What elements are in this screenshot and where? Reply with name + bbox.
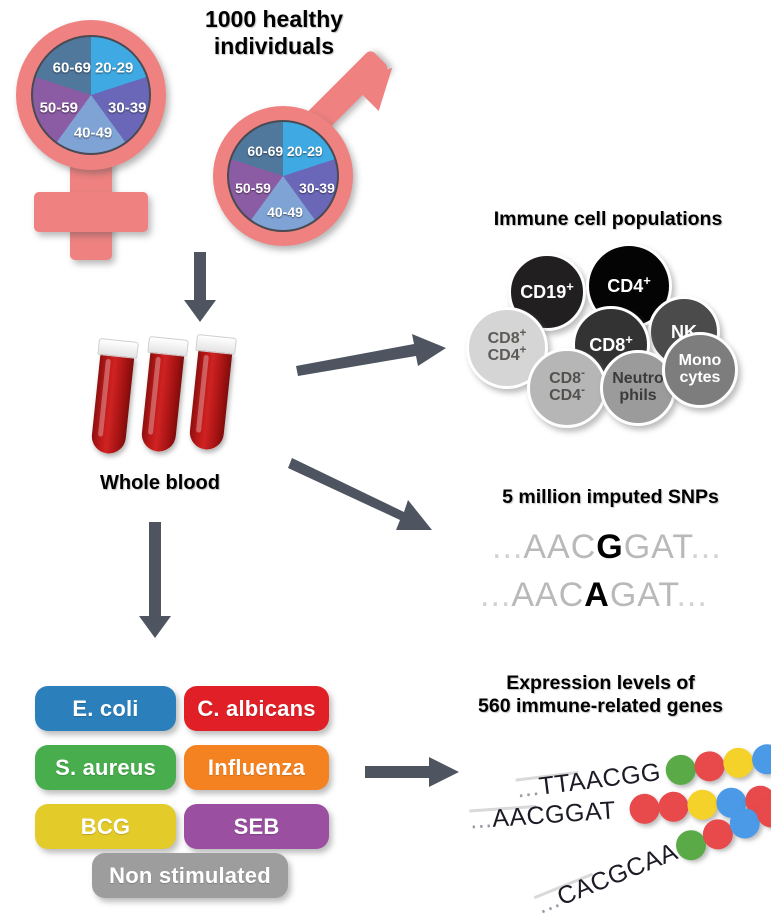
immune-cell-label: Neutrophils: [612, 371, 664, 405]
gene-expression-bead: [629, 793, 661, 825]
immune-cell-label: CD8+CD4+: [488, 331, 527, 365]
gene-expression-bead: [722, 746, 755, 779]
immune-cell-bubble: Monocytes: [662, 332, 738, 408]
gene-expression-bead: [750, 743, 771, 776]
strand-sequence-text: ...CACGCAA: [533, 838, 682, 921]
gene-expression-bead: [657, 791, 689, 823]
immune-cell-bubble: CD8-CD4-: [527, 348, 607, 428]
figure-canvas: 1000 healthy individuals 20-2930-3940-49…: [0, 0, 771, 922]
immune-cell-label: CD19+: [520, 283, 574, 302]
gene-expression-bead: [686, 789, 718, 821]
strand-sequence-text: ...AACGGAT: [469, 796, 617, 835]
gene-expression-bead: [664, 753, 697, 786]
immune-cell-label: CD4+: [607, 277, 651, 296]
immune-cell-label: CD8-CD4-: [549, 371, 585, 405]
gene-expression-bead: [693, 750, 726, 783]
expression-strand-group: ...TTAACGG...AACGGAT...CACGCAA: [0, 0, 771, 922]
immune-cell-label: Monocytes: [679, 353, 722, 387]
